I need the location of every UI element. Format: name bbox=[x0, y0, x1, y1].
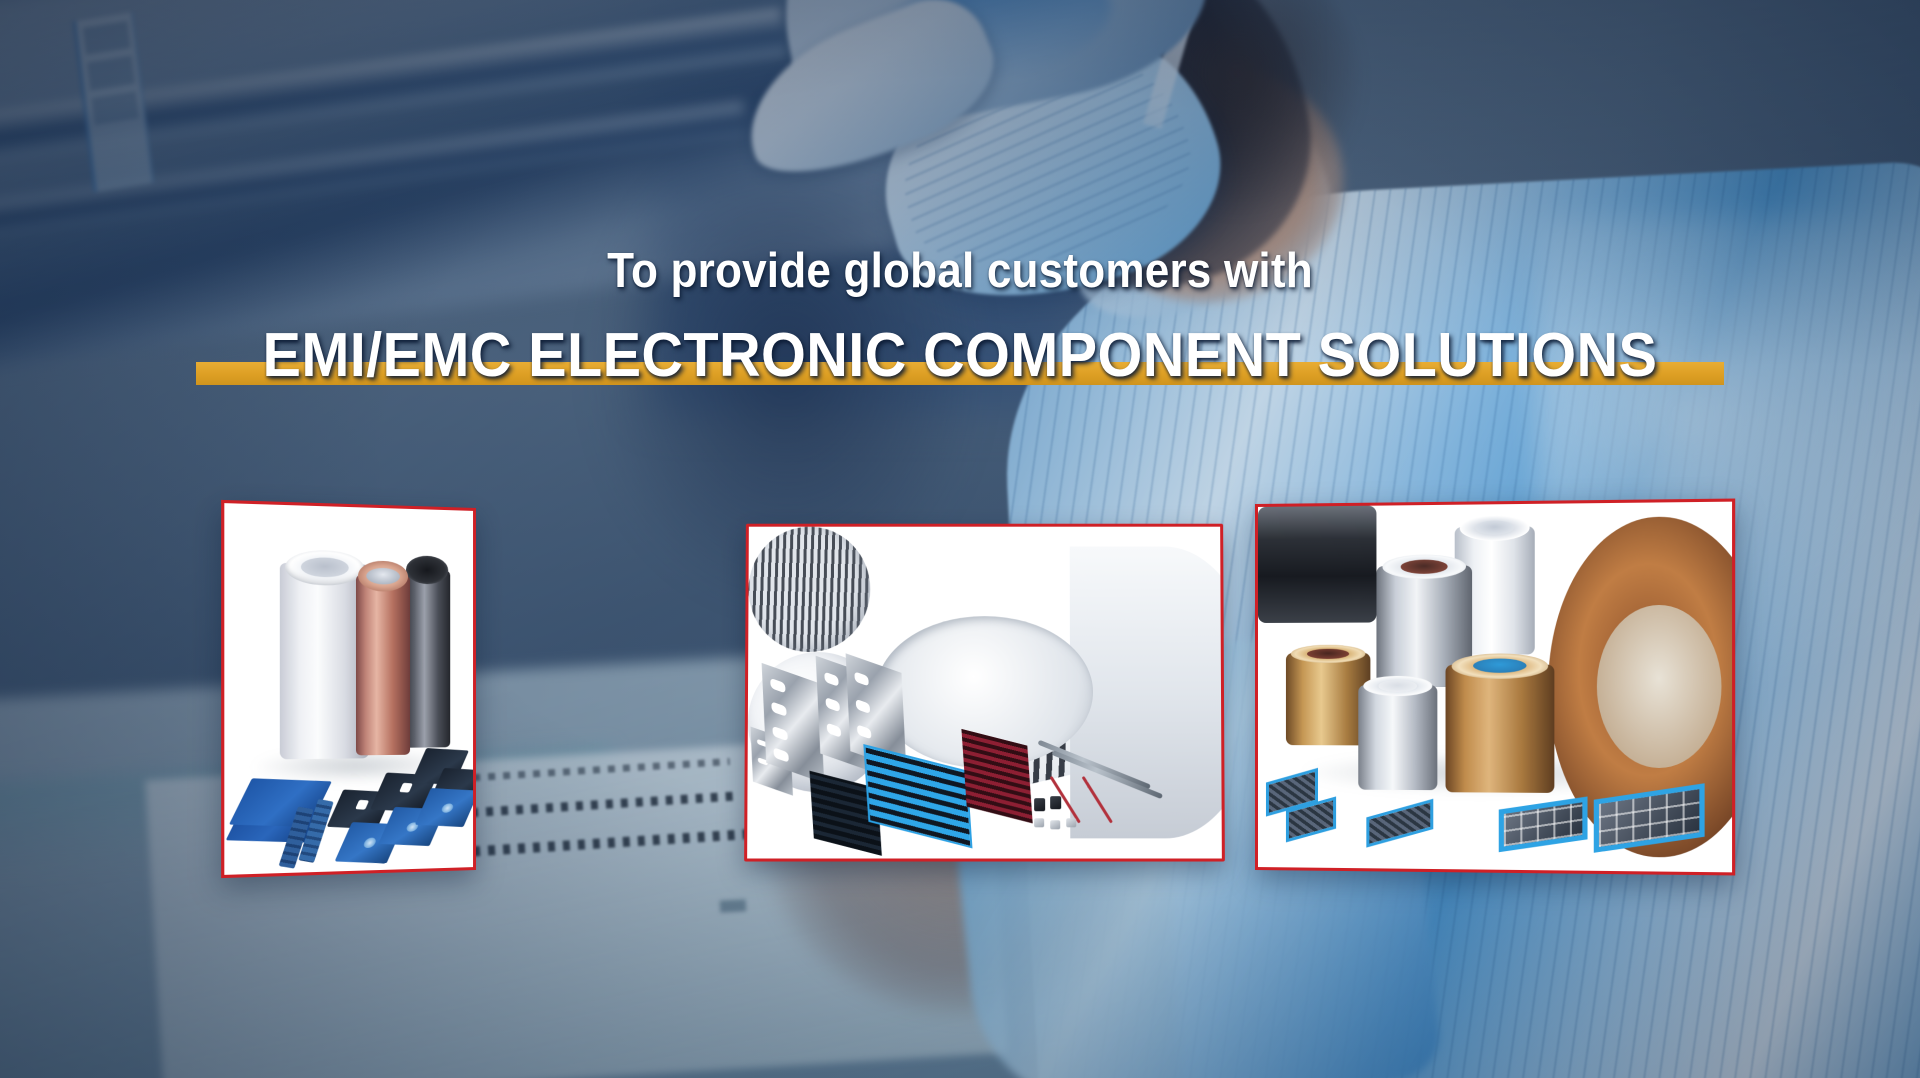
foil-tape-roll-copper-large bbox=[1446, 665, 1555, 793]
product-card-conductive-tape-fingerstock[interactable] bbox=[744, 524, 1225, 862]
shielding-gasket-chevron bbox=[1366, 799, 1433, 848]
mesh-conductive-tape-roll bbox=[748, 527, 870, 652]
hero-subtitle: To provide global customers with bbox=[96, 246, 1824, 298]
fastener-screw bbox=[1050, 796, 1061, 809]
thermal-film-roll-graphite bbox=[404, 570, 450, 748]
thermal-film-roll-copper bbox=[356, 575, 410, 756]
product-card-foil-shielding-tapes[interactable] bbox=[1255, 499, 1735, 876]
product-photo-conductive-tape-fingerstock bbox=[747, 527, 1222, 859]
product-card-thermal-film-rolls[interactable] bbox=[221, 500, 476, 878]
fastener-nut bbox=[1050, 820, 1060, 829]
product-card-gallery bbox=[0, 0, 1920, 1078]
hero-title: EMI/EMC ELECTRONIC COMPONENT SOLUTIONS bbox=[263, 324, 1658, 387]
foil-tape-roll-silver-small bbox=[1358, 685, 1437, 790]
fastener-screw bbox=[1034, 798, 1045, 811]
foil-tape-roll-black-conductive bbox=[1258, 506, 1376, 623]
fastener-nut bbox=[1034, 818, 1044, 827]
hero-banner: To provide global customers with EMI/EMC… bbox=[0, 0, 1920, 1078]
product-photo-thermal-film-rolls bbox=[224, 503, 473, 875]
fastener-nut bbox=[1066, 818, 1076, 827]
product-photo-foil-shielding-tapes bbox=[1258, 502, 1732, 873]
shielding-gasket-array bbox=[1499, 796, 1588, 852]
hero-title-wrap: EMI/EMC ELECTRONIC COMPONENT SOLUTIONS bbox=[210, 324, 1710, 387]
hero-text-block: To provide global customers with EMI/EMC… bbox=[0, 246, 1920, 387]
